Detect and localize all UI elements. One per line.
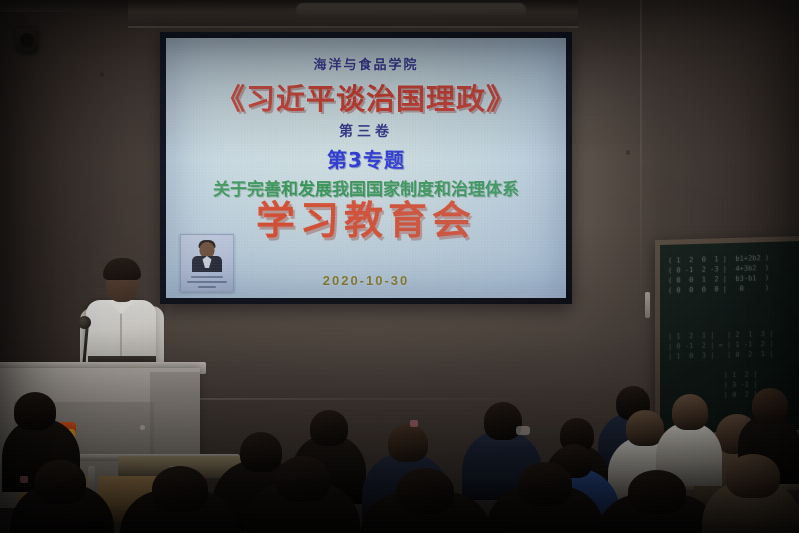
projection-screen: 海洋与食品学院 《习近平谈治国理政》 第三卷 第3专题 关于完善和发展我国国家制…: [166, 38, 566, 298]
slide-heading: 学习教育会: [256, 202, 476, 241]
slide-topic-number: 第3专题: [327, 144, 405, 173]
screen-roller: [296, 3, 526, 17]
audience-person-head: [726, 454, 780, 498]
audience-person-head: [14, 392, 56, 430]
audience-person-head: [240, 432, 282, 472]
wall-blemish: [626, 150, 630, 155]
slide-subtitle: 关于完善和发展我国国家制度和治理体系: [213, 175, 519, 200]
projector-screen-housing: [128, 0, 578, 28]
hair-clip: [20, 476, 28, 483]
book-cover-text-line: [187, 281, 227, 283]
audience-person-head: [152, 466, 208, 512]
wall-seam-line: [640, 0, 642, 300]
slide-organization: 海洋与食品学院: [313, 54, 418, 73]
audience-person-head: [672, 394, 708, 430]
projection-screen-frame: 海洋与食品学院 《习近平谈治国理政》 第三卷 第3专题 关于完善和发展我国国家制…: [160, 32, 572, 304]
audience-person-head: [388, 424, 428, 462]
chalk-stick-icon: [645, 292, 650, 318]
face-mask: [516, 426, 530, 435]
microphone-icon: [78, 316, 91, 329]
audience-person-head: [752, 388, 788, 422]
chalk-line: ( 0 0 0 0 | 0 ): [668, 284, 769, 296]
slide-date: 2020-10-30: [323, 273, 410, 288]
audience-person-head: [34, 460, 86, 504]
wall-speaker-icon: [16, 28, 38, 54]
book-cover-text-line: [198, 286, 216, 288]
audience-person-head: [310, 410, 348, 446]
audience-area: [0, 380, 799, 533]
book-cover-thumbnail: [180, 234, 234, 292]
lecture-hall-photo: 海洋与食品学院 《习近平谈治国理政》 第三卷 第3专题 关于完善和发展我国国家制…: [0, 0, 799, 533]
slide-book-title: 《习近平谈治国理政》: [216, 85, 516, 114]
audience-person-head: [396, 468, 454, 514]
hair-clip: [410, 420, 418, 427]
audience-person-head: [276, 456, 330, 502]
audience-person-head: [518, 462, 572, 506]
wall-blemish: [100, 72, 104, 77]
presenter-hair: [103, 258, 141, 280]
book-cover-text-line: [191, 276, 223, 278]
audience-person-head: [628, 470, 686, 514]
slide-volume: 第三卷: [339, 121, 393, 141]
chalk-line: | 1 0 3 | | 0 2 1 |: [668, 350, 773, 362]
ceiling-strip: [0, 0, 140, 12]
